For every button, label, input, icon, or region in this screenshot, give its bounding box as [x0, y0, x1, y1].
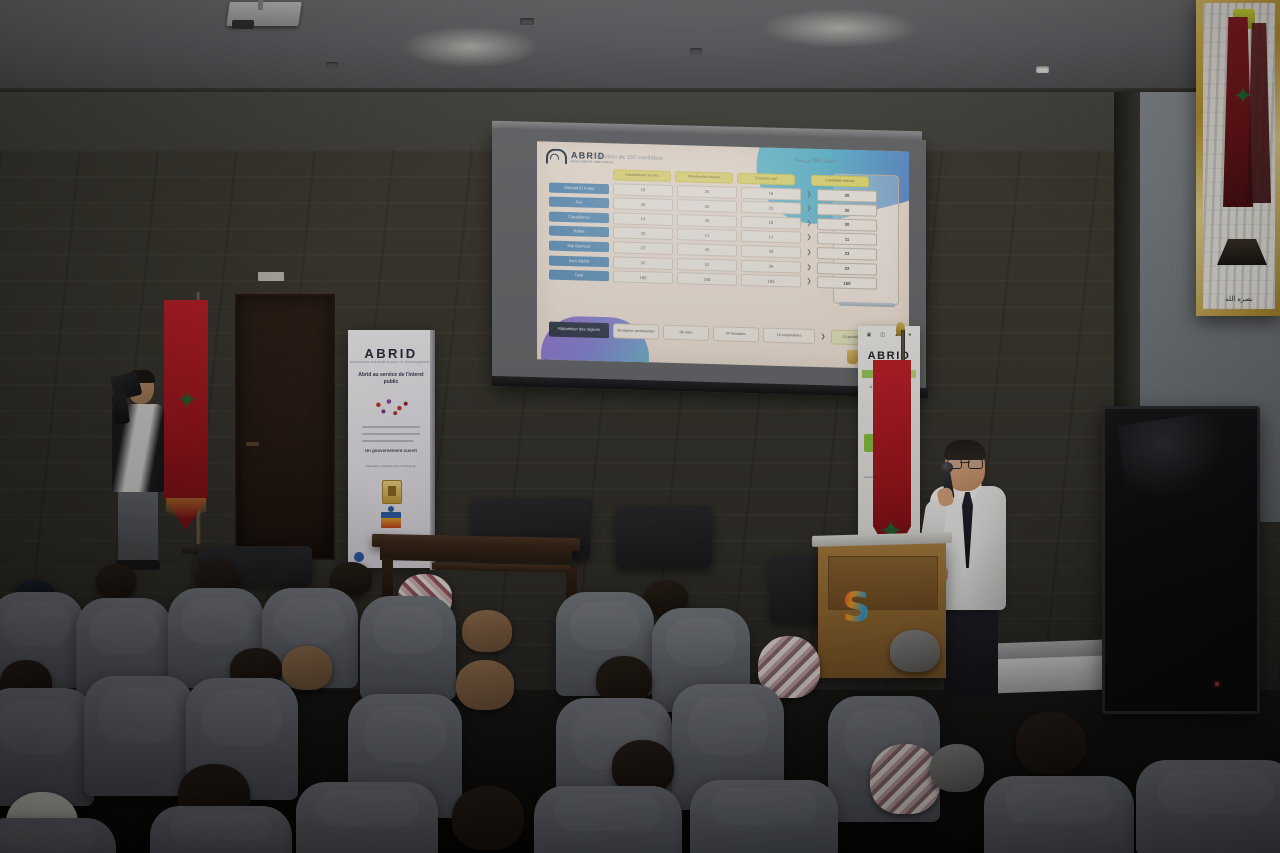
frame-caption: نصره الله [1207, 295, 1271, 303]
table-cell: 22 [741, 201, 801, 215]
royal-crest-icon [382, 480, 402, 504]
table-cell: 21 [677, 228, 737, 242]
arrow-icon: ❯ [805, 250, 813, 256]
auditorium-door[interactable] [235, 294, 335, 560]
photographer-legs [118, 484, 158, 566]
speaker-legs [944, 596, 998, 698]
table-cell-retained: 30 [817, 203, 877, 217]
ceiling-vent [520, 18, 534, 25]
column-header: Candidats retenus [811, 175, 869, 188]
door-handle[interactable] [246, 442, 259, 446]
globe-icon [354, 552, 364, 562]
audience-seat [984, 776, 1134, 853]
table-cell: 35 [613, 227, 673, 241]
footer-cell: 04 domaines [713, 326, 759, 342]
total-column-shadow [839, 302, 895, 308]
row-label: Beni Mellal [549, 255, 609, 267]
table-cell: 31 [677, 258, 737, 272]
column-header: Candidatures recues [613, 169, 671, 182]
table-cell: 22 [613, 241, 673, 255]
moroccan-flag-left [164, 300, 208, 530]
audience-head [96, 564, 136, 598]
column-icon: A [870, 384, 873, 389]
footer-cell: 12 coopératives [763, 328, 815, 344]
arrow-icon: ❯ [819, 334, 827, 340]
ceiling [0, 0, 1280, 92]
globe-icon: ● [908, 332, 911, 338]
door-sign [258, 272, 284, 281]
projector-lens-icon [232, 20, 254, 29]
table-cell: 26 [741, 259, 801, 273]
row-label: Casablanca [549, 211, 609, 223]
row-label: Fes [549, 197, 609, 209]
banner-illustration [370, 396, 412, 418]
footer-cell: 06 villes [663, 325, 709, 341]
footer-cell: 08 régions participantes [613, 323, 659, 339]
abrid-banner-left: ABRID association marocaine pour le deve… [348, 330, 434, 568]
table-cell: 14 [613, 212, 673, 226]
ceiling-light [400, 26, 540, 68]
table-cell: 16 [741, 186, 801, 200]
table-cell: 17 [741, 230, 801, 244]
audience-head [930, 744, 984, 792]
column-header: Entretien oral [737, 173, 795, 186]
green-star-icon: ✦ [1233, 85, 1253, 109]
slide-arabic-header: اختيار 150 مرشحا [795, 157, 835, 164]
banner-right-icons: ▣ ◫ ▲ ● [862, 332, 916, 338]
audience-head [890, 630, 940, 672]
table-cell: 180 [613, 270, 673, 284]
row-label: Sidi Bennour [549, 240, 609, 252]
divider [362, 426, 420, 428]
banner-left-logo: ABRID [348, 346, 434, 361]
arrow-icon: ❯ [805, 235, 813, 241]
table-cell: 40 [677, 243, 737, 257]
table-cell: 18 [741, 216, 801, 230]
table-cell-retained: 20 [817, 189, 877, 203]
ceiling-light [760, 8, 920, 48]
row-label: Oriental El Kelaa [549, 182, 609, 194]
banner-left-subhead: Un gouvernement ouvert [356, 448, 426, 453]
footer-label: Répartition des régions [549, 322, 609, 339]
table-cell-retained: 11 [817, 232, 877, 246]
table-cell: 18 [613, 183, 673, 197]
row-label: Rabat [549, 226, 609, 238]
banner-left-stand [430, 330, 435, 570]
divider [362, 440, 414, 442]
table-cell: 32 [613, 256, 673, 270]
power-led-icon [1215, 682, 1219, 686]
table-cell-grand-total: 150 [817, 276, 877, 290]
abrid-arch-icon [546, 148, 567, 164]
audience-seat [0, 818, 116, 853]
audience-seat [0, 688, 94, 806]
auditorium-scene: ✦ نصره الله ABRID association marocaine … [0, 0, 1280, 853]
table-cell-retained: 30 [817, 218, 877, 232]
arrow-icon: ❯ [805, 206, 813, 212]
table-cell-retained: 22 [817, 262, 877, 276]
banner-left-logo-sub: association marocaine pour le developpem… [348, 360, 434, 364]
audience-seat [690, 780, 838, 853]
arrow-icon: ❯ [805, 279, 813, 285]
table-cell: 25 [677, 185, 737, 199]
audience-head [282, 646, 332, 690]
audience-seat [1136, 760, 1280, 853]
doc-icon: ▣ [867, 332, 872, 338]
table-cell: 160 [741, 274, 801, 288]
green-star-icon: ✦ [176, 390, 198, 412]
ceiling-vent [1036, 66, 1049, 73]
divider [362, 433, 420, 435]
audience-head [452, 786, 524, 850]
stage-armchair [616, 506, 712, 568]
podium-logo: S [842, 588, 886, 646]
audience-seat [150, 806, 292, 853]
ceiling-vent [326, 62, 338, 68]
ceiling-vent [690, 48, 702, 54]
audience-head [456, 660, 514, 710]
eyeglasses-bridge [960, 462, 970, 463]
audience-head [596, 656, 652, 704]
arrow-icon: ❯ [805, 220, 813, 226]
speaker-hair [944, 440, 986, 460]
banner-left-partners: Partenaires institutionnels et technique… [356, 464, 426, 468]
chart-icon: ◫ [880, 332, 885, 338]
partner-logo-icon [381, 512, 401, 528]
crest-icon [847, 350, 858, 364]
table-cell: 26 [613, 198, 673, 212]
projector-mount [258, 0, 263, 10]
frame-inner: ✦ نصره الله [1203, 3, 1275, 309]
table-cell: 28 [741, 245, 801, 259]
slide-table: Candidatures recues Presélection dossier… [549, 168, 897, 293]
column-header: Presélection dossier [675, 171, 733, 184]
audience-seat [360, 596, 456, 700]
framed-picture: ✦ نصره الله [1196, 0, 1280, 316]
presentation-slide: ABRID association marocaine Selection de… [537, 141, 909, 369]
audience-seat [84, 676, 194, 796]
arrow-icon: ❯ [805, 264, 813, 270]
banner-left-headline: Abrid au service de l'interet public [356, 372, 426, 386]
audience-head [1016, 712, 1086, 774]
arrow-icon: ❯ [805, 191, 813, 197]
audience-head-scarf [870, 744, 940, 814]
table-cell: 30 [677, 199, 737, 213]
table-cell-retained: 23 [817, 247, 877, 261]
audience-head [462, 610, 512, 652]
row-label-total: Total [549, 270, 609, 282]
microphone-head-icon [941, 462, 953, 473]
table-cell: 28 [677, 214, 737, 228]
screen-glare [1117, 411, 1233, 503]
table-cell: 208 [677, 272, 737, 286]
audience-seat [296, 782, 438, 853]
audience-seat [534, 786, 682, 853]
